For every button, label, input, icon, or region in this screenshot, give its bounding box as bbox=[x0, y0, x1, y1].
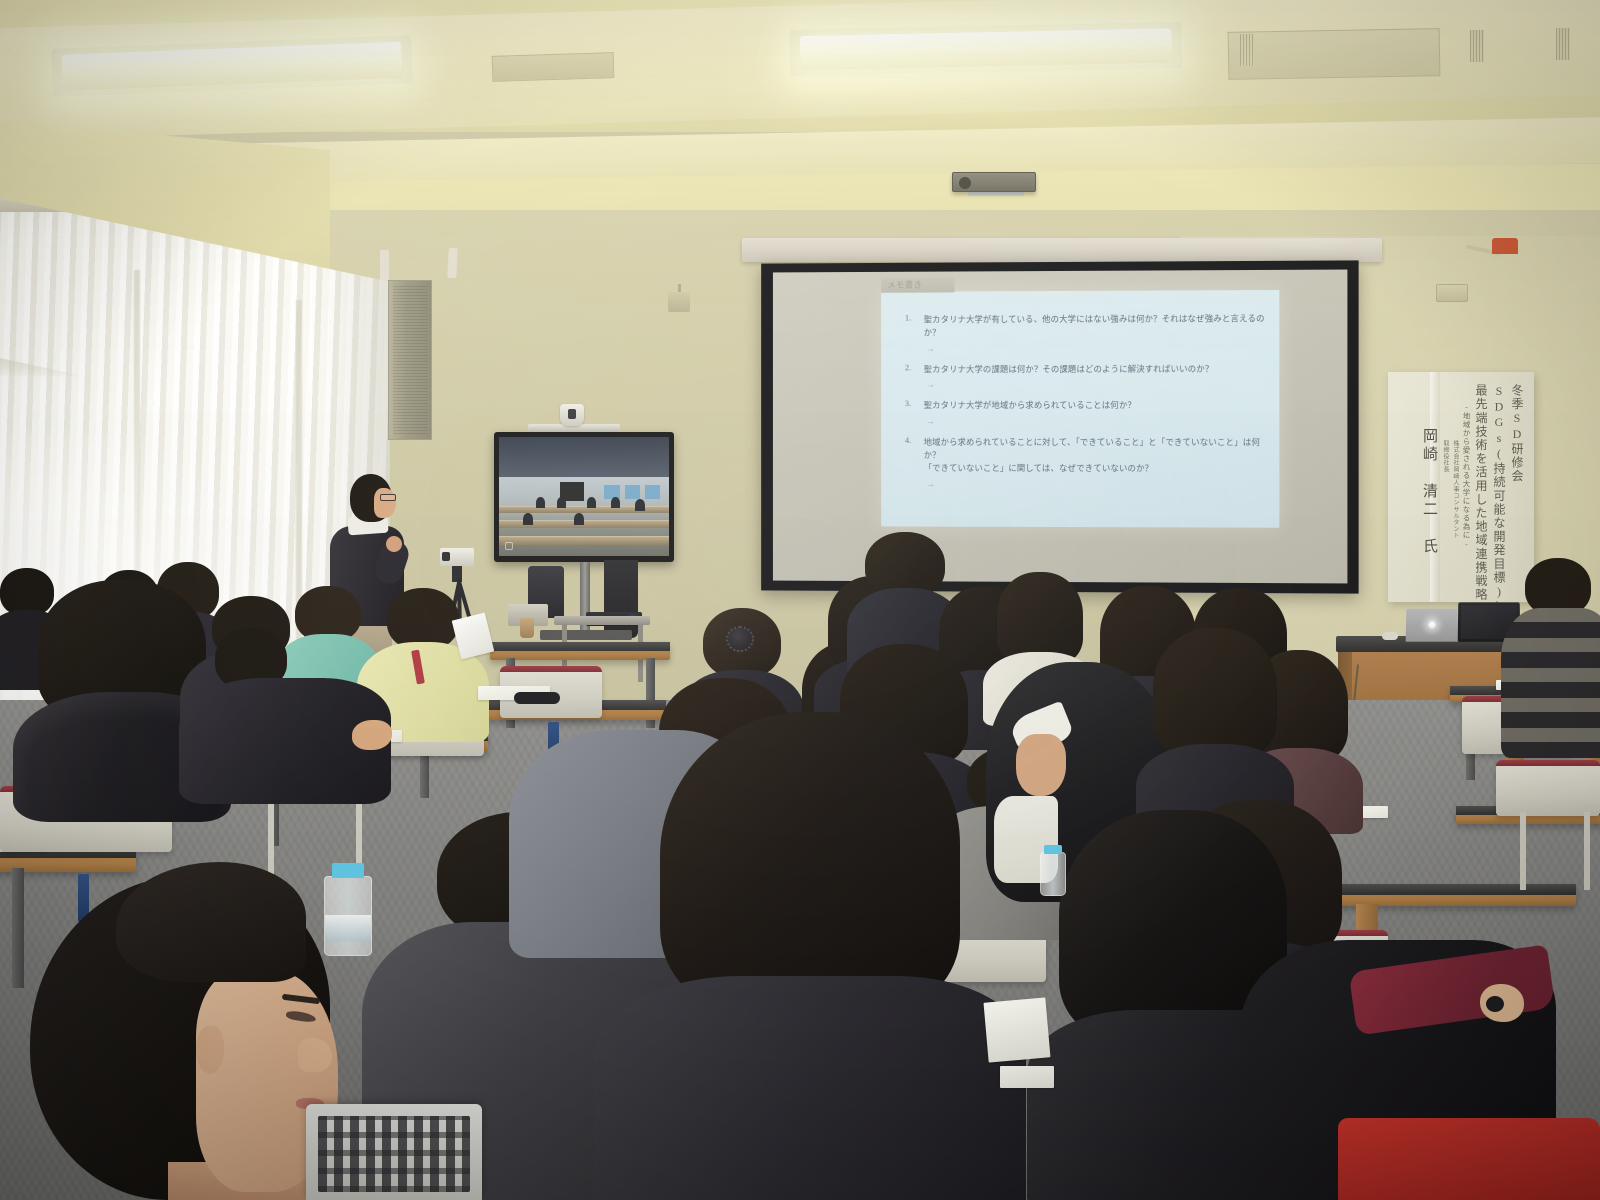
projection-screen: メモ書き 1. 聖カタリナ大学が有している、他の大学にはない強みは何か？それはな… bbox=[761, 260, 1358, 593]
paper-cup bbox=[520, 618, 534, 638]
attendee-striped-top bbox=[1501, 608, 1600, 758]
attendee-hair bbox=[660, 712, 960, 1012]
tv-stand-base bbox=[540, 630, 632, 640]
seated-attendee bbox=[180, 628, 390, 814]
nun-face bbox=[1016, 734, 1065, 796]
slide-item-text: 聖カタリナ大学が有している、他の大学にはない強みは何か？それはなぜ強みと言えるの… bbox=[924, 312, 1265, 340]
red-bag bbox=[1338, 1118, 1600, 1200]
remote-attendee bbox=[523, 513, 533, 525]
wall-bracket bbox=[668, 292, 690, 312]
lecture-chair[interactable] bbox=[1496, 760, 1600, 816]
silver-laptop[interactable] bbox=[1406, 609, 1459, 642]
apple-logo-icon bbox=[1428, 620, 1436, 629]
beaded-hair-clip bbox=[726, 626, 754, 652]
tv-brand-logo-icon bbox=[505, 542, 513, 550]
smartphone-icon bbox=[514, 692, 560, 704]
banner-line-2: SDGs(持続可能な開発目標)と bbox=[1491, 384, 1508, 592]
attendee-hand bbox=[352, 720, 392, 750]
projector-lens-icon bbox=[959, 177, 971, 189]
slide-answer-arrow: → bbox=[927, 417, 1265, 428]
bottle-cap bbox=[1044, 845, 1062, 854]
equipment-cart-top bbox=[554, 616, 650, 625]
air-conditioning-vent bbox=[1228, 28, 1441, 80]
vent-grille bbox=[1240, 34, 1254, 66]
banner-speaker-name: 岡崎 清二 氏 bbox=[1419, 384, 1440, 592]
glasses-icon bbox=[380, 494, 396, 501]
ceiling-hanger bbox=[447, 248, 458, 278]
ceiling-vent bbox=[492, 52, 615, 82]
water-bottle bbox=[1040, 852, 1066, 896]
woman-hair-top bbox=[116, 862, 306, 982]
remote-hall-window bbox=[625, 485, 640, 499]
ceiling-projector-icon bbox=[952, 172, 1036, 192]
remote-attendee bbox=[611, 497, 620, 508]
wall-speaker-icon bbox=[388, 280, 432, 440]
seminar-room-photo: メモ書き 1. 聖カタリナ大学が有している、他の大学にはない強みは何か？それはな… bbox=[0, 0, 1600, 1200]
student-desk bbox=[490, 642, 670, 660]
presentation-slide: メモ書き 1. 聖カタリナ大学が有している、他の大学にはない強みは何か？それはな… bbox=[881, 290, 1279, 528]
seated-attendee bbox=[1508, 558, 1600, 758]
remote-attendee bbox=[557, 497, 566, 508]
video-conference-display[interactable] bbox=[494, 432, 674, 562]
tripod-camcorder-icon bbox=[440, 548, 474, 566]
banner-subtitle: -地域から愛される大学になる為に- bbox=[1461, 384, 1472, 592]
woman-ear bbox=[196, 1026, 224, 1074]
remote-hall-ceiling bbox=[499, 437, 669, 482]
desk-edge bbox=[490, 642, 670, 651]
chair-leg bbox=[1584, 812, 1590, 890]
slide-item: 4. 地域から求められていることに対して、「できていること」と「できていないこと… bbox=[905, 436, 1265, 477]
remote-attendee bbox=[574, 513, 584, 525]
woman-nose bbox=[298, 1038, 332, 1072]
presenter-face bbox=[374, 488, 396, 518]
slide-item: 2. 聖カタリナ大学の課題は何か？その課題はどのように解決すればいいのか？ bbox=[905, 362, 1265, 376]
chair-leg bbox=[1520, 812, 1526, 890]
projection-screen-valance bbox=[742, 238, 1382, 262]
held-object bbox=[1486, 996, 1504, 1012]
banner-affiliation: 株式会社岡崎人事コンサルタント bbox=[1451, 384, 1460, 592]
slide-answer-arrow: → bbox=[927, 480, 1265, 492]
slide-title: メモ書き bbox=[887, 277, 956, 292]
handout-papers bbox=[984, 997, 1051, 1062]
slide-item: 1. 聖カタリナ大学が有している、他の大学にはない強みは何か？それはなぜ強みと言… bbox=[905, 312, 1265, 340]
seated-attendee bbox=[1140, 628, 1290, 828]
slide-item-number: 2. bbox=[905, 363, 924, 376]
slide-item-text: 聖カタリナ大学の課題は何か？その課題はどのように解決すればいいのか？ bbox=[924, 362, 1214, 376]
vent-grille bbox=[1556, 28, 1570, 60]
slide-item-number: 4. bbox=[905, 436, 924, 476]
foreground-laptop[interactable] bbox=[306, 1104, 482, 1200]
speaker-grille bbox=[393, 286, 427, 434]
remote-hall-desk-row bbox=[499, 536, 669, 545]
banner-role: 取締役社長 bbox=[1441, 384, 1450, 592]
attendee-hair bbox=[1153, 628, 1277, 758]
slide-item-text: 地域から求められていることに対して、「できていること」と「できていないこと」は何… bbox=[924, 436, 1265, 463]
slide-item-number: 1. bbox=[905, 313, 924, 340]
ptz-camera-icon bbox=[560, 404, 584, 426]
slide-item-text-line2: 「できていないこと」に関しては、なぜできていないのか？ bbox=[924, 462, 1265, 476]
remote-attendee bbox=[536, 497, 545, 508]
slide-item: 3. 聖カタリナ大学が地域から求められていることは何か？ bbox=[905, 399, 1265, 413]
tv-stand-cover bbox=[604, 560, 638, 638]
handout-papers bbox=[1000, 1066, 1054, 1088]
smoke-detector-icon bbox=[1436, 284, 1468, 302]
slide-body: 1. 聖カタリナ大学が有している、他の大学にはない強みは何か？それはなぜ強みと言… bbox=[905, 312, 1265, 499]
remote-hall-window bbox=[645, 485, 660, 499]
vent-grille bbox=[1470, 30, 1484, 62]
slide-item-number: 3. bbox=[905, 399, 924, 412]
chair-trim bbox=[1496, 760, 1600, 766]
slide-item-text: 聖カタリナ大学が地域から求められていることは何か？ bbox=[924, 399, 1136, 413]
remote-attendee bbox=[587, 497, 596, 508]
presenter-hand bbox=[386, 536, 402, 552]
slide-answer-arrow: → bbox=[927, 343, 1265, 355]
camera-lens-icon bbox=[568, 409, 576, 419]
slide-answer-arrow: → bbox=[927, 380, 1265, 391]
chair-trim bbox=[500, 666, 602, 672]
attendee-shoulders bbox=[594, 976, 1026, 1200]
laptop-keyboard[interactable] bbox=[318, 1116, 470, 1192]
banner-line-3: 最先端技術を活用した地域連携戦略 bbox=[1473, 384, 1490, 592]
seated-attendee bbox=[600, 712, 1020, 1200]
emergency-light-icon bbox=[1492, 238, 1518, 254]
camcorder-lens-icon bbox=[442, 552, 450, 561]
attendee-hair bbox=[997, 572, 1083, 664]
remote-attendee bbox=[635, 499, 645, 511]
attendee-hair bbox=[387, 588, 459, 650]
mouse-icon bbox=[1382, 632, 1398, 640]
video-conference-feed bbox=[499, 437, 669, 556]
